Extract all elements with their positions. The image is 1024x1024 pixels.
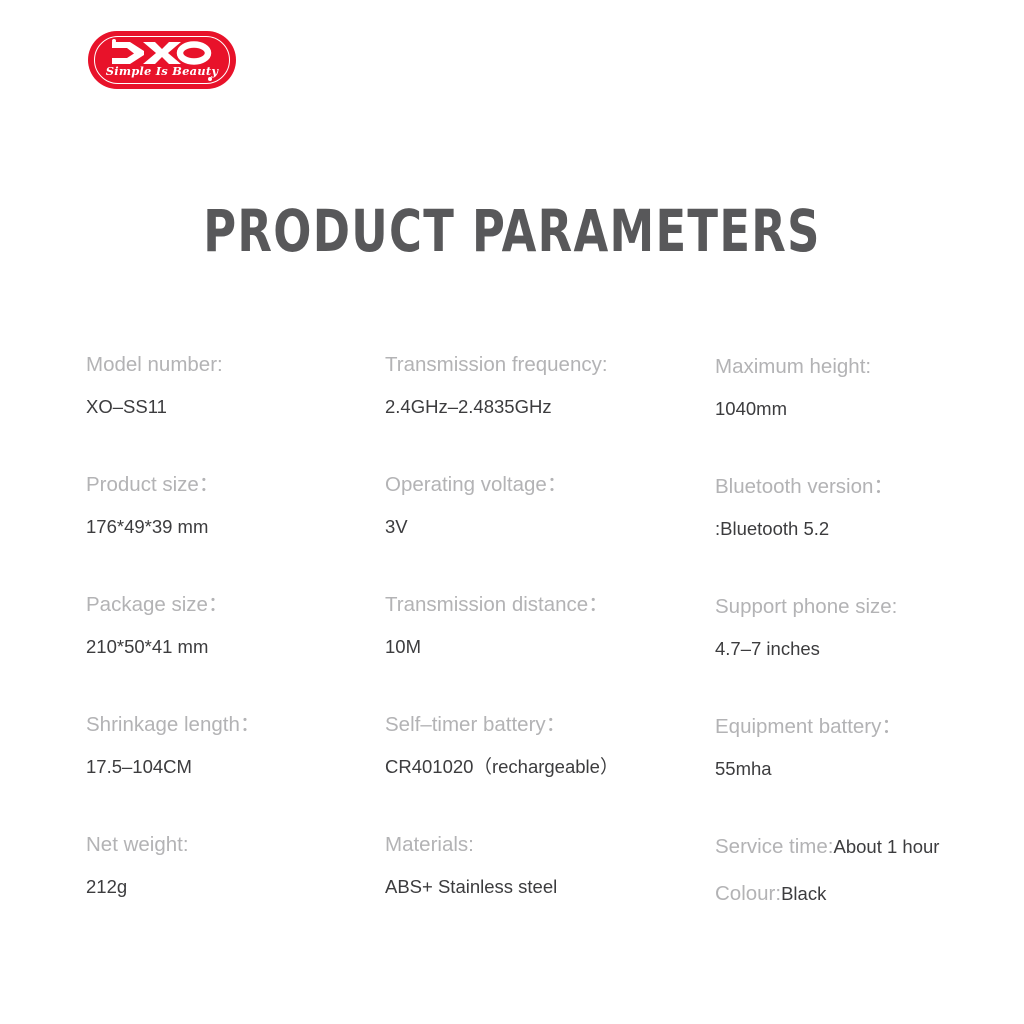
spec-item-materials: Materials: ABS+ Stainless steel (385, 832, 715, 952)
spec-label: Operating voltage： (385, 472, 715, 498)
spec-value: 3V (385, 514, 715, 540)
spec-column-3: Maximum height: 1040mm Bluetooth version… (715, 352, 966, 954)
spec-item-transmission-frequency: Transmission frequency: 2.4GHz–2.4835GHz (385, 352, 715, 472)
spec-item-support-phone-size: Support phone size: 4.7–7 inches (715, 594, 966, 714)
spec-label: Colour: (715, 882, 781, 905)
spec-line-colour: Colour:Black (715, 881, 966, 909)
spec-value: 4.7–7 inches (715, 636, 966, 662)
spec-value: 2.4GHz–2.4835GHz (385, 394, 715, 420)
spec-column-2: Transmission frequency: 2.4GHz–2.4835GHz… (385, 352, 715, 954)
spec-label: Transmission distance： (385, 592, 715, 618)
spec-label: Equipment battery： (715, 714, 966, 740)
spec-label: Model number: (86, 352, 385, 378)
spec-value: ABS+ Stainless steel (385, 874, 715, 900)
spec-item-net-weight: Net weight: 212g (86, 832, 385, 952)
spec-column-1: Model number: XO–SS11 Product size： 176*… (86, 352, 385, 954)
spec-label: Product size： (86, 472, 385, 498)
spec-label: Shrinkage length： (86, 712, 385, 738)
spec-item-model-number: Model number: XO–SS11 (86, 352, 385, 472)
spec-item-product-size: Product size： 176*49*39 mm (86, 472, 385, 592)
spec-item-package-size: Package size： 210*50*41 mm (86, 592, 385, 712)
spec-item-service-and-colour: Service time:About 1 hour Colour:Black (715, 834, 966, 954)
spec-label: Bluetooth version： (715, 474, 966, 500)
product-parameters-grid: Model number: XO–SS11 Product size： 176*… (86, 352, 966, 954)
spec-value: 55mha (715, 756, 966, 782)
spec-item-shrinkage-length: Shrinkage length： 17.5–104CM (86, 712, 385, 832)
spec-item-transmission-distance: Transmission distance： 10M (385, 592, 715, 712)
spec-value: 210*50*41 mm (86, 634, 385, 660)
spec-label: Materials: (385, 832, 715, 858)
spec-value: About 1 hour (833, 836, 939, 857)
spec-item-maximum-height: Maximum height: 1040mm (715, 354, 966, 474)
spec-value: 10M (385, 634, 715, 660)
spec-item-self-timer-battery: Self–timer battery： CR401020（rechargeabl… (385, 712, 715, 832)
spec-value: :Bluetooth 5.2 (715, 516, 966, 542)
spec-label: Self–timer battery： (385, 712, 715, 738)
spec-value: 176*49*39 mm (86, 514, 385, 540)
spec-item-bluetooth-version: Bluetooth version： :Bluetooth 5.2 (715, 474, 966, 594)
spec-label: Net weight: (86, 832, 385, 858)
spec-label: Package size： (86, 592, 385, 618)
spec-label: Transmission frequency: (385, 352, 715, 378)
spec-value: XO–SS11 (86, 394, 385, 420)
spec-label: Service time: (715, 835, 833, 858)
spec-value: Black (781, 883, 826, 904)
page-title: PRODUCT PARAMETERS (72, 197, 953, 265)
logo-tagline: Simple Is Beauty (88, 64, 236, 78)
spec-label: Maximum height: (715, 354, 966, 380)
spec-label: Support phone size: (715, 594, 966, 620)
spec-line-service-time: Service time:About 1 hour (715, 834, 966, 862)
brand-logo: Simple Is Beauty (88, 31, 236, 89)
spec-value: CR401020（rechargeable） (385, 754, 715, 780)
spec-item-operating-voltage: Operating voltage： 3V (385, 472, 715, 592)
spec-value: 212g (86, 874, 385, 900)
spec-value: 17.5–104CM (86, 754, 385, 780)
spec-item-equipment-battery: Equipment battery： 55mha (715, 714, 966, 834)
spec-value: 1040mm (715, 396, 966, 422)
